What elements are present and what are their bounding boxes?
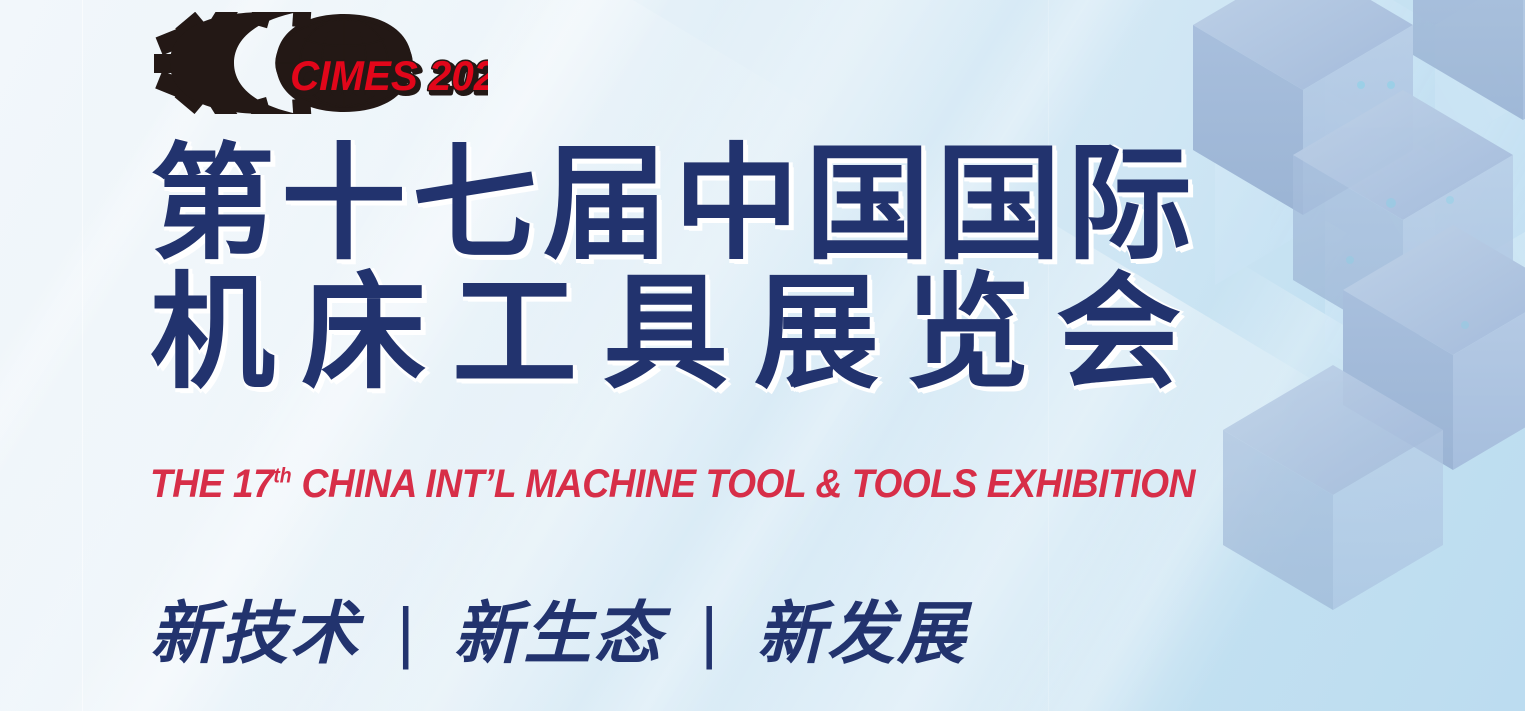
title-line-1: 第十七届中国国际 <box>150 143 1240 266</box>
english-subtitle: THE 17th CHINA INT’L MACHINE TOOL & TOOL… <box>150 462 1195 507</box>
cimes-wordmark-text: CIMES 2026 <box>290 52 488 99</box>
tagline-item-2: 新生态 <box>454 596 664 672</box>
page-title: 第十七届中国国际 机床工具展览会 <box>150 143 1240 395</box>
tagline-item-3: 新发展 <box>757 596 967 672</box>
subtitle-prefix: THE 17 <box>150 462 273 506</box>
tagline-separator-2: | <box>684 593 736 671</box>
cimes-2026-event-banner: CIMES 2026 CIMES 2026 第十七届中国国际 机床工具展览会 T… <box>0 0 1525 711</box>
tagline-item-1: 新技术 <box>150 596 360 672</box>
cimes-wordmark: CIMES 2026 CIMES 2026 <box>290 52 488 102</box>
cimes-logo: CIMES 2026 CIMES 2026 <box>148 12 488 114</box>
subtitle-ordinal: th <box>273 465 291 488</box>
title-line-2: 机床工具展览会 <box>150 272 1240 395</box>
subtitle-rest: CHINA INT’L MACHINE TOOL & TOOLS EXHIBIT… <box>301 462 1195 506</box>
tagline: 新技术 | 新生态 | 新发展 <box>150 578 967 677</box>
tagline-separator-1: | <box>381 593 433 671</box>
